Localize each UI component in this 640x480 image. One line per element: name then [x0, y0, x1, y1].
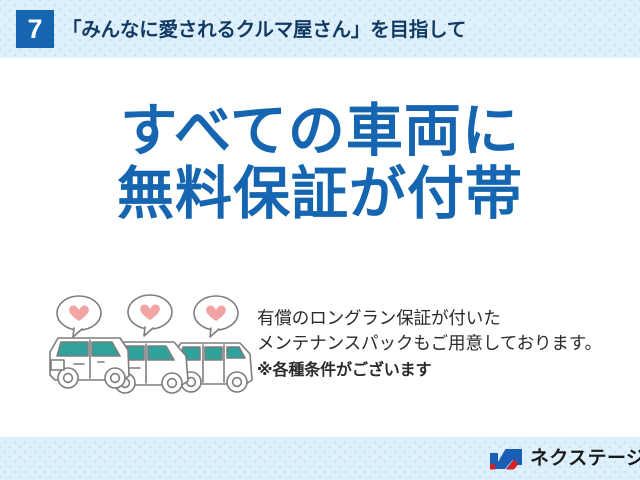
body-copy-block: 有償のロングラン保証が付いた メンテナンスパックもご用意しております。 ※各種条…: [257, 306, 637, 383]
headline-line-2: 無料保証が付帯: [0, 163, 640, 226]
cars-illustration: [40, 292, 260, 400]
headline-line-1: すべての車両に: [0, 100, 640, 163]
advertisement-banner: 7 「みんなに愛されるクルマ屋さん」を目指して すべての車両に 無料保証が付帯: [0, 0, 640, 480]
body-copy-line-2: メンテナンスパックもご用意しております。: [257, 331, 637, 356]
badge-number-seven: 7: [16, 10, 54, 48]
headline-block: すべての車両に 無料保証が付帯: [0, 100, 640, 226]
nextage-n-logo-icon: [489, 448, 523, 470]
body-copy-note: ※各種条件がございます: [257, 358, 637, 383]
minivan-icon: [50, 338, 129, 388]
brand-logo: ネクステージ: [489, 445, 640, 473]
brand-name: ネクステージ: [530, 448, 640, 470]
header-title: 「みんなに愛されるクルマ屋さん」を目指して: [62, 15, 466, 45]
body-copy-line-1: 有償のロングラン保証が付いた: [257, 306, 637, 331]
